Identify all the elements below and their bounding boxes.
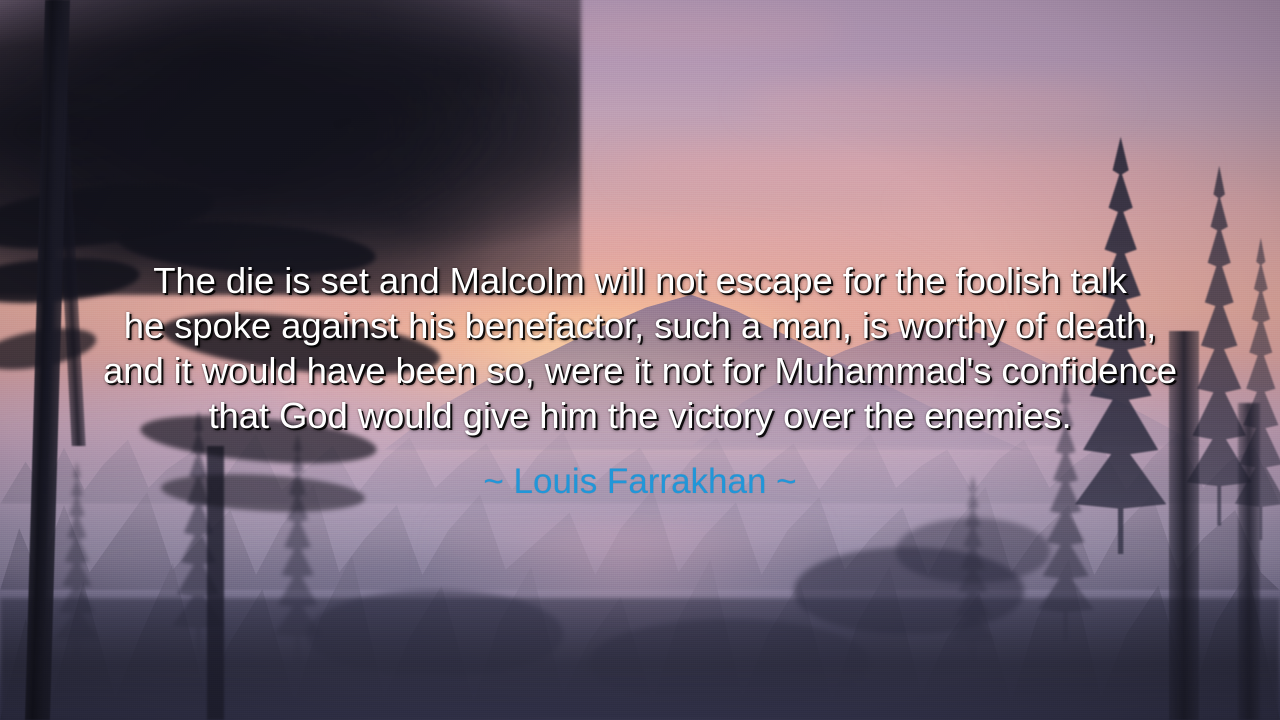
quote-text: The die is set and Malcolm will not esca… [40,258,1240,438]
author-attribution: ~ Louis Farrakhan ~ [40,461,1240,503]
quote-overlay: The die is set and Malcolm will not esca… [0,258,1280,503]
quote-image: The die is set and Malcolm will not esca… [0,0,1280,720]
